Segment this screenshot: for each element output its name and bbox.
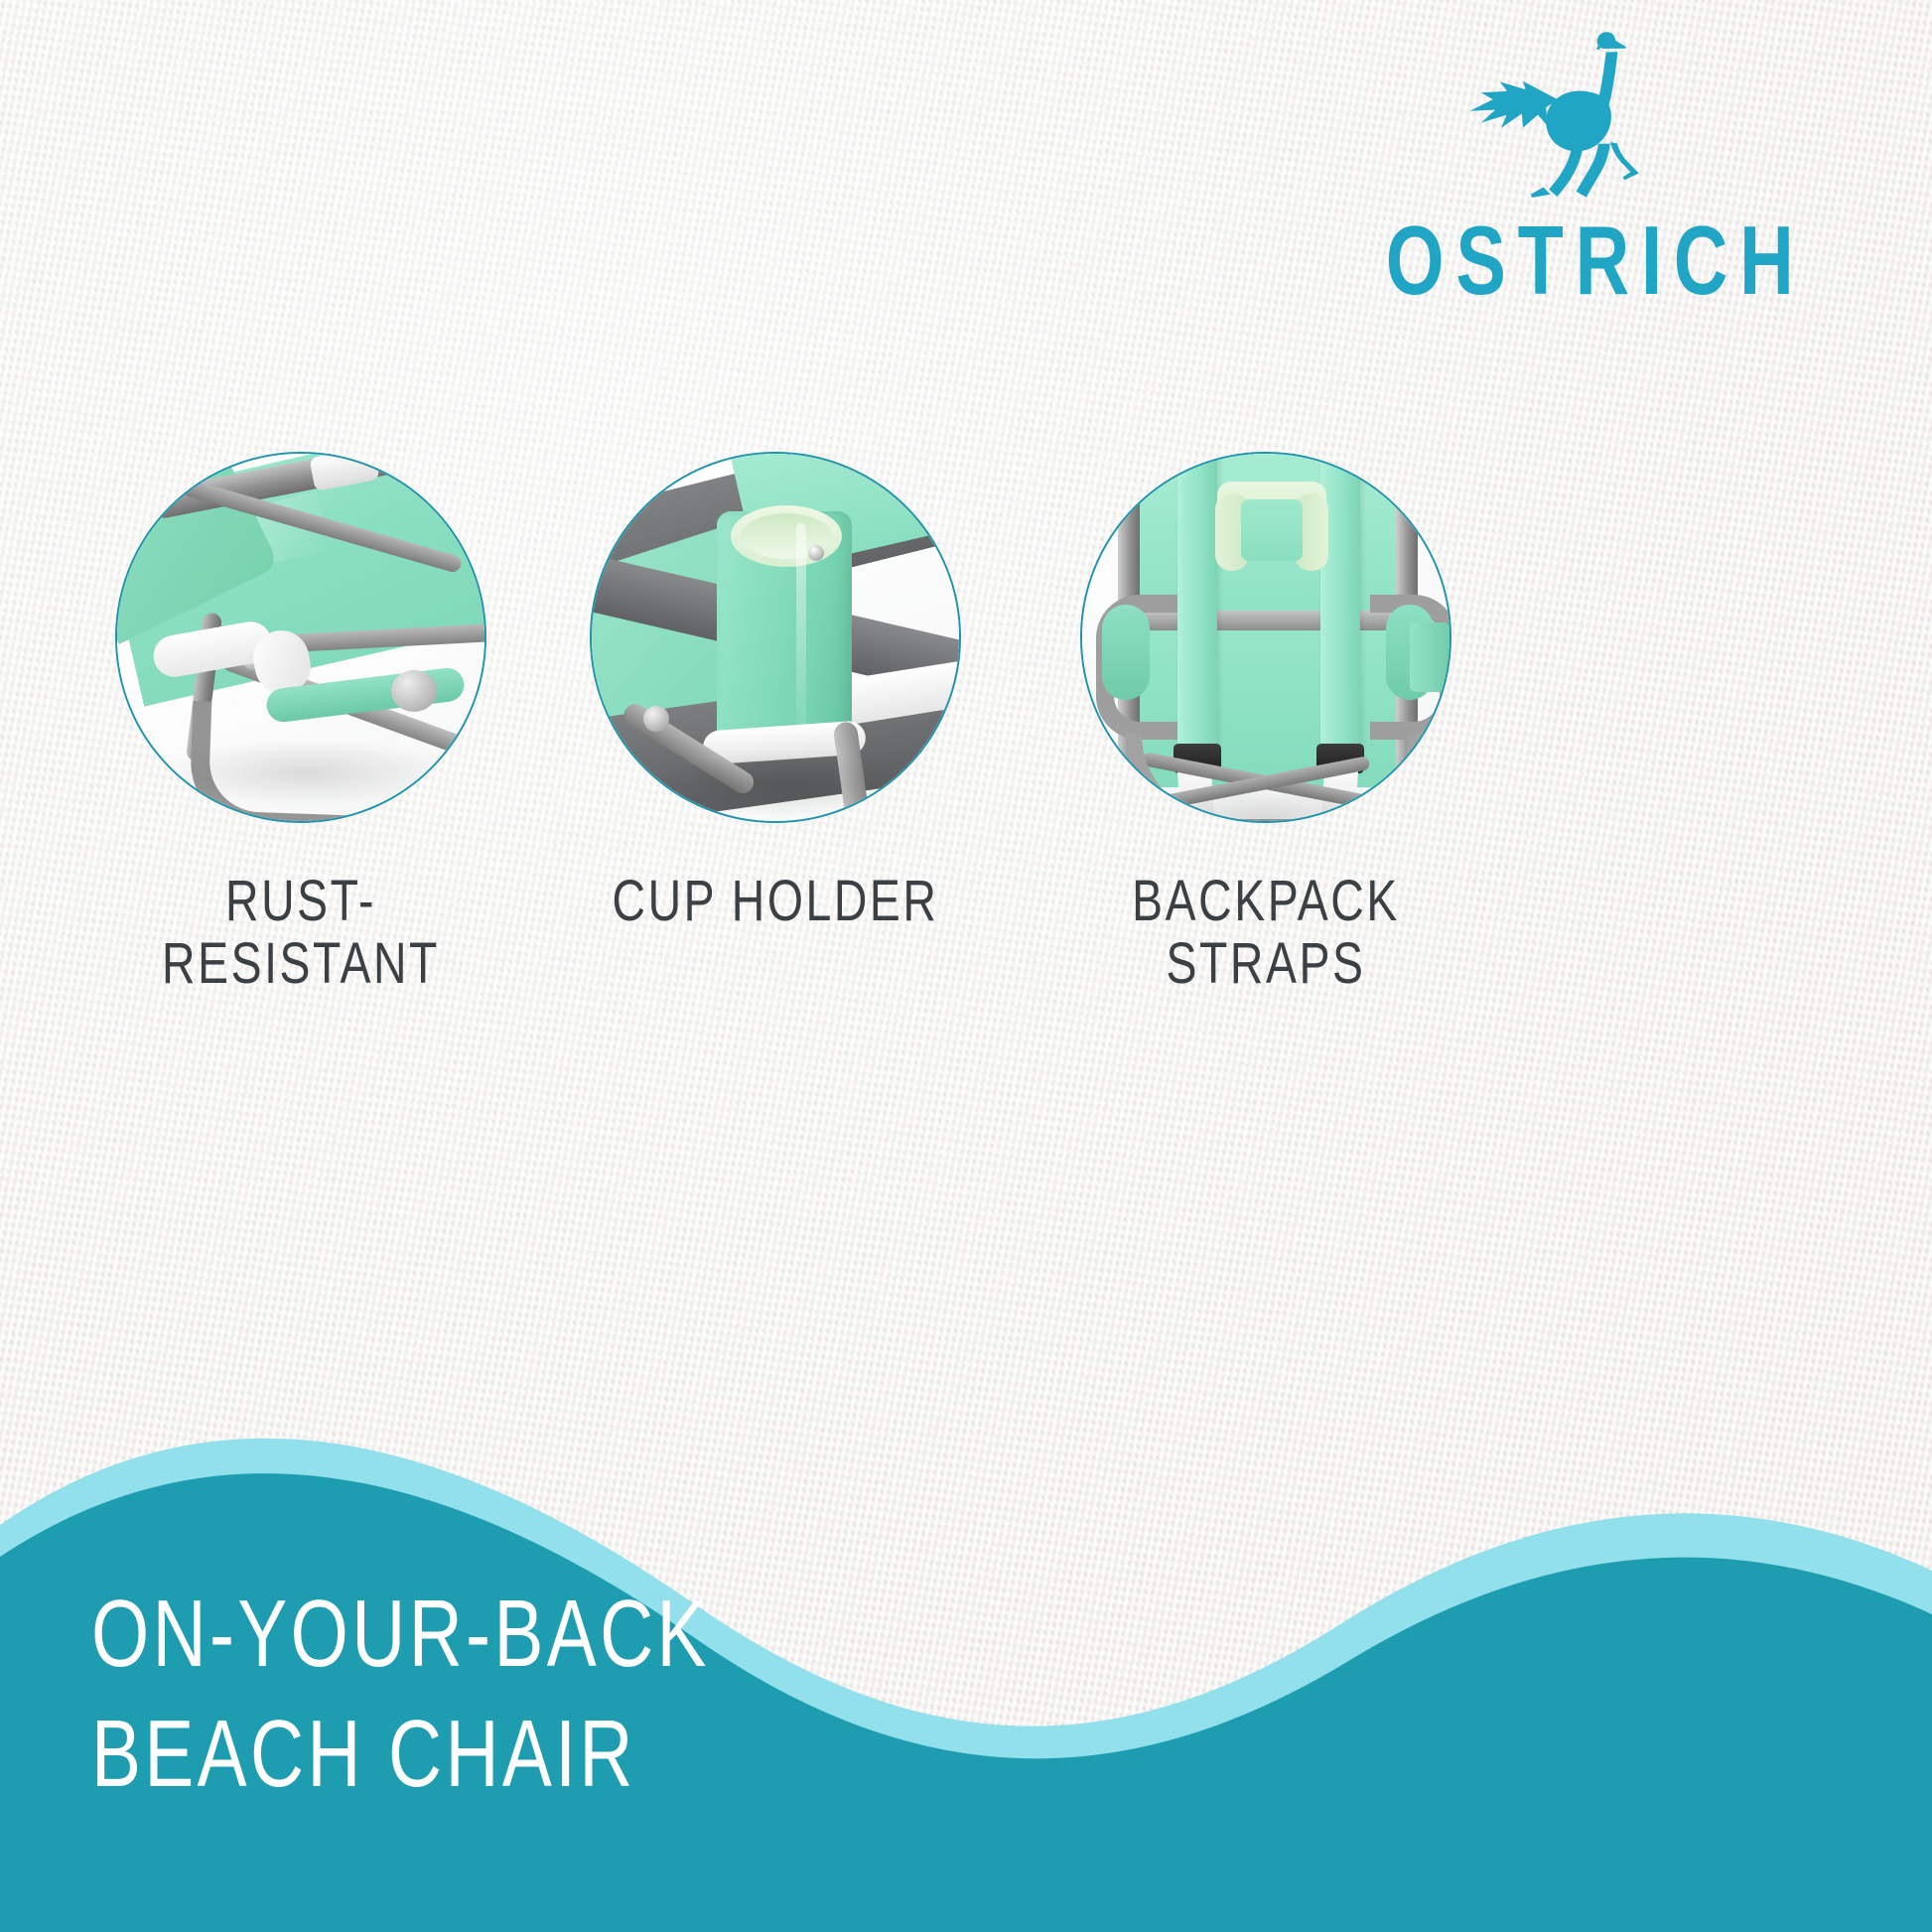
chair-frame-closeup-photo [117,454,484,821]
feature-label-rust-resistant: RUST- RESISTANT [130,871,472,995]
feature-rust-resistant: RUST- RESISTANT [87,452,514,995]
bottom-wave-banner: ON-YOUR-BACK BEACH CHAIR [0,1376,1932,1932]
backpack-straps-photo [1082,454,1449,821]
feature-image-rust-resistant [115,452,486,823]
feature-cup-holder: CUP HOLDER [562,452,989,933]
feature-label-backpack-straps: BACKPACK STRAPS [1095,871,1437,995]
features-row: RUST- RESISTANT [0,452,1932,1167]
feature-image-cup-holder [590,452,961,823]
brand-wordmark: OSTRICH [1386,211,1761,310]
feature-label-cup-holder: CUP HOLDER [605,871,946,933]
feature-backpack-straps: BACKPACK STRAPS [1052,452,1479,995]
feature-image-backpack-straps [1080,452,1451,823]
banner-title: ON-YOUR-BACK BEACH CHAIR [91,1575,710,1815]
ostrich-bird-icon [1459,24,1688,198]
brand-logo: OSTRICH [1355,24,1792,299]
cup-holder-closeup-photo [592,454,959,821]
